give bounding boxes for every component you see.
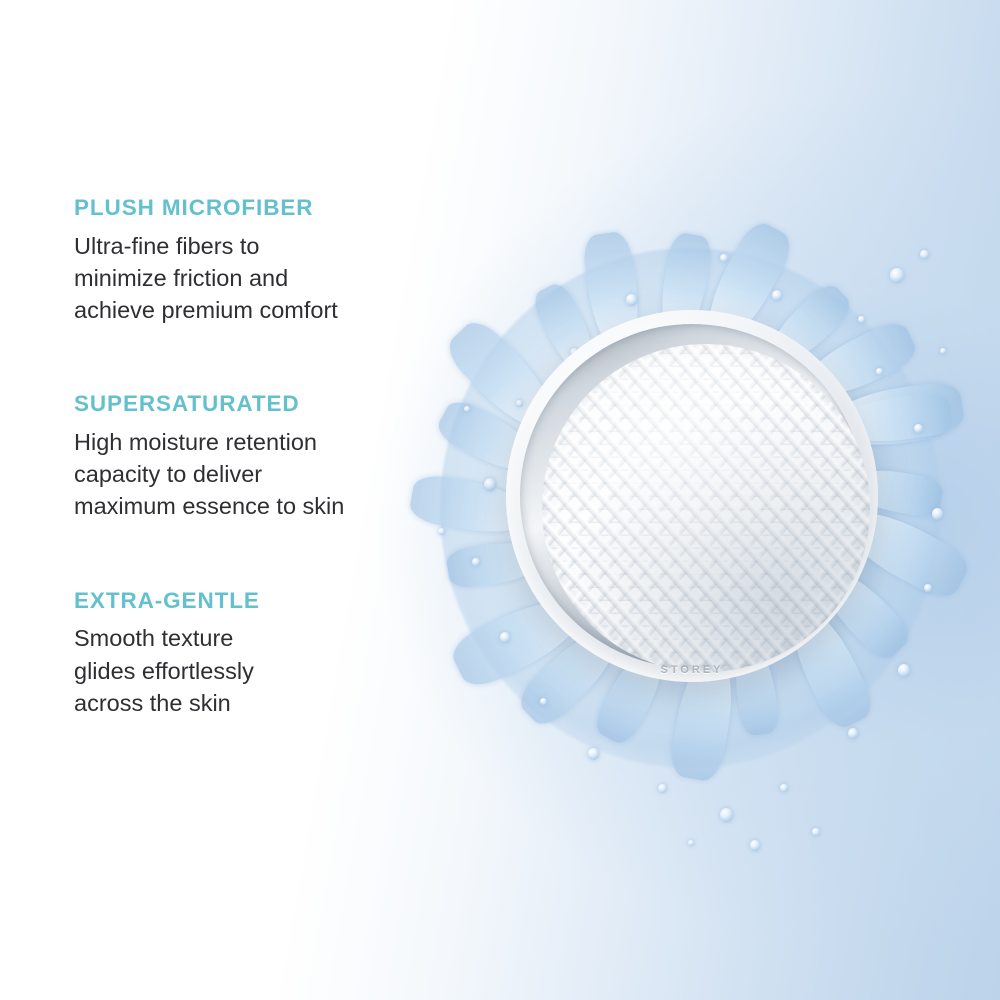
feature-description: Smooth texture glides effortlessly acros…: [74, 622, 434, 719]
water-droplet: [688, 840, 694, 846]
water-droplet: [920, 250, 929, 259]
microfiber-pad: STOREY: [506, 310, 878, 682]
feature-title: SUPERSATURATED: [74, 392, 434, 417]
water-droplet: [772, 290, 782, 301]
feature-description-line: capacity to deliver: [74, 458, 434, 490]
feature-description-line: across the skin: [74, 687, 434, 719]
water-droplet: [848, 728, 858, 739]
water-droplet: [858, 316, 865, 323]
feature-extra-gentle: EXTRA-GENTLE Smooth texture glides effor…: [74, 589, 434, 719]
water-droplet: [940, 348, 946, 354]
feature-description: Ultra-fine fibers to minimize friction a…: [74, 230, 434, 327]
feature-description-line: achieve premium comfort: [74, 294, 434, 326]
feature-plush-microfiber: PLUSH MICROFIBER Ultra-fine fibers to mi…: [74, 196, 434, 326]
water-droplet: [720, 254, 728, 262]
water-droplet: [898, 664, 910, 677]
feature-description-line: glides effortlessly: [74, 655, 434, 687]
water-droplet: [500, 632, 510, 643]
water-droplet: [588, 748, 599, 760]
water-droplet: [812, 828, 820, 836]
water-droplet: [438, 528, 445, 535]
feature-description-line: maximum essence to skin: [74, 490, 434, 522]
pad-metallic-rim: [520, 324, 864, 668]
feature-description: High moisture retention capacity to deli…: [74, 426, 434, 523]
feature-list: PLUSH MICROFIBER Ultra-fine fibers to mi…: [74, 196, 434, 719]
product-splash-composition: STOREY: [420, 228, 960, 868]
feature-description-line: Smooth texture: [74, 622, 434, 654]
water-droplet: [720, 808, 733, 822]
water-droplet: [626, 294, 637, 306]
water-droplet: [780, 784, 788, 792]
pad-shading: [542, 344, 870, 672]
pad-embossed-brand: STOREY: [660, 664, 723, 676]
pad-knit-surface: [542, 344, 870, 672]
water-droplet: [484, 478, 496, 491]
water-droplet: [750, 840, 760, 851]
water-droplet: [932, 508, 943, 520]
water-droplet: [890, 268, 904, 283]
feature-description-line: Ultra-fine fibers to: [74, 230, 434, 262]
feature-title: EXTRA-GENTLE: [74, 589, 434, 614]
product-feature-graphic: PLUSH MICROFIBER Ultra-fine fibers to mi…: [0, 0, 1000, 1000]
feature-description-line: minimize friction and: [74, 262, 434, 294]
feature-description-line: High moisture retention: [74, 426, 434, 458]
water-droplet: [658, 784, 667, 793]
feature-title: PLUSH MICROFIBER: [74, 196, 434, 221]
feature-supersaturated: SUPERSATURATED High moisture retention c…: [74, 392, 434, 522]
